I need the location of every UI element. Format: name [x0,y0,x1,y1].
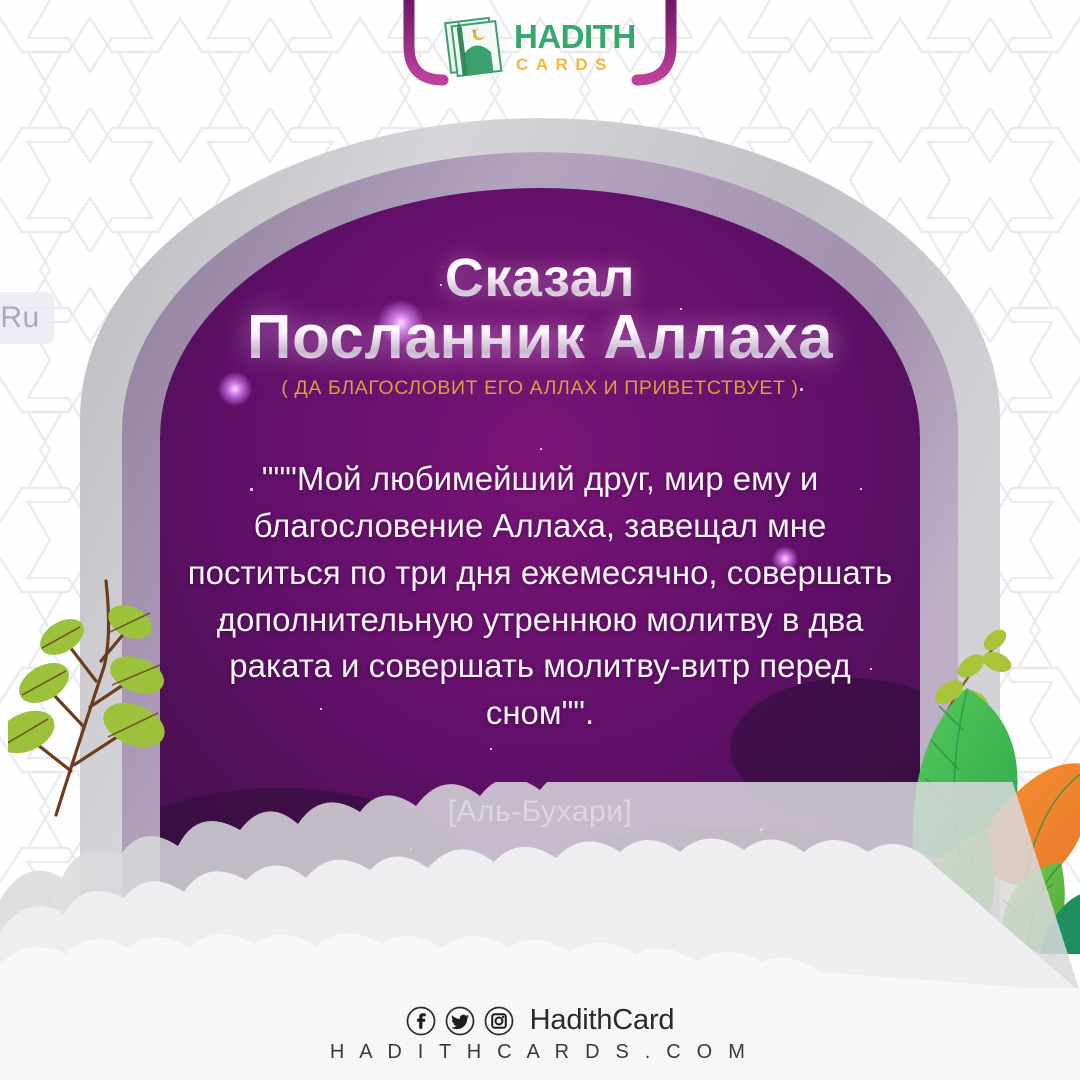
title-line-2: Посланник Аллаха [180,305,900,371]
hadith-text: """Мой любимейший друг, мир ему и благос… [180,456,900,737]
title-line-1: Сказал [180,250,900,307]
logo-hadith-text: HADITH [514,20,636,53]
logo-wordmark: HADITH CARDS [514,17,636,73]
language-badge-label: Ru [0,301,39,335]
hadith-card: Ru HADITH CARDS [0,0,1080,1080]
card-content: Сказал Посланник Аллаха ( ДА БЛАГОСЛОВИТ… [180,250,900,829]
instagram-icon[interactable] [484,1006,514,1036]
footer-handle: HadithCard [530,1004,675,1037]
footer-website: H A D I T H C A R D S . C O M [330,1041,750,1064]
mosque-photo-icon [440,12,506,78]
twitter-icon[interactable] [445,1006,475,1036]
title-subtitle: ( ДА БЛАГОСЛОВИТ ЕГО АЛЛАХ И ПРИВЕТСТВУЕ… [180,377,900,400]
facebook-icon[interactable] [406,1006,436,1036]
card-footer: HadithCard H A D I T H C A R D S . C O M [0,988,1080,1080]
language-badge[interactable]: Ru [0,292,54,344]
logo-cards-text: CARDS [516,56,636,73]
cloud-band-decoration [0,782,1080,992]
footer-social-row: HadithCard [406,1004,675,1037]
brand-logo[interactable]: HADITH CARDS [440,8,640,82]
